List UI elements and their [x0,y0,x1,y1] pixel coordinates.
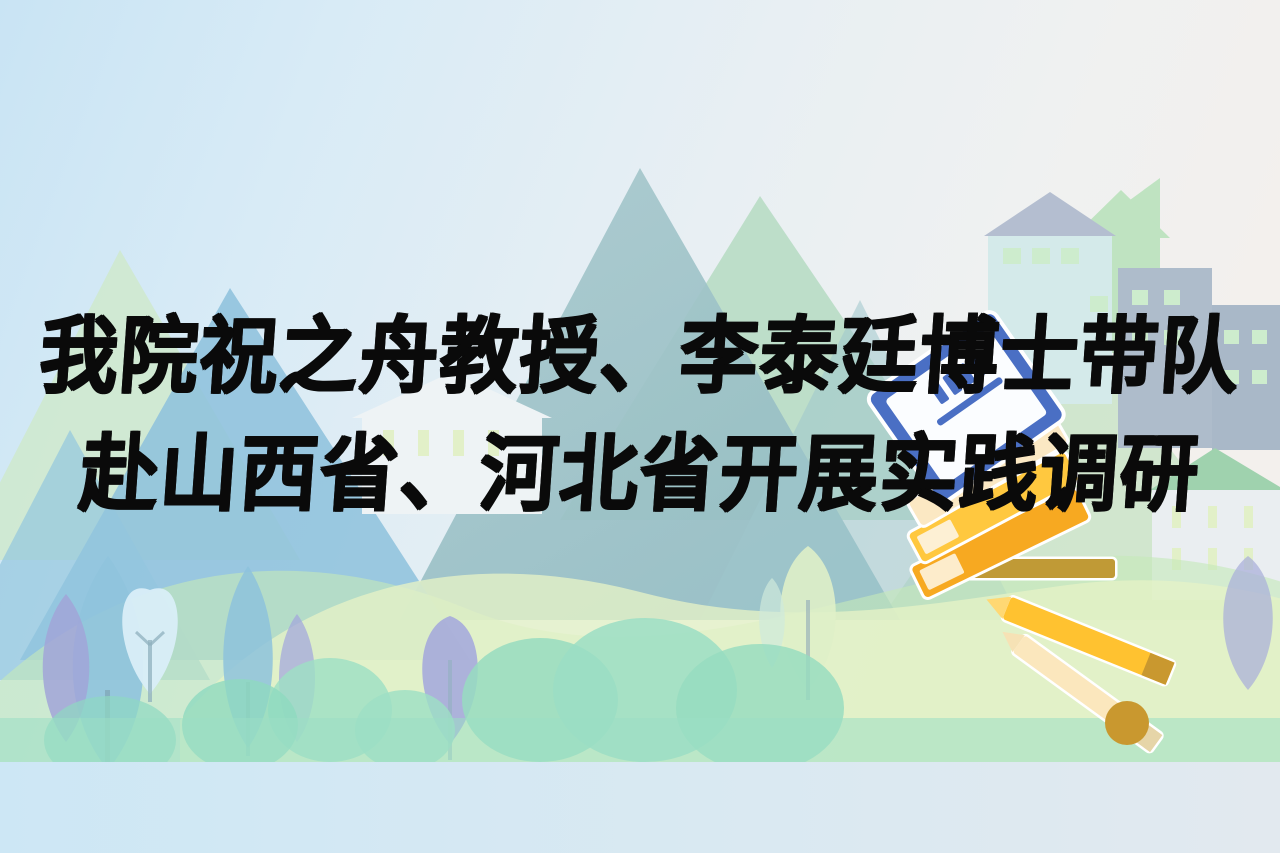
banner-title-block: 我院祝之舟教授、李泰廷博士带队 赴山西省、河北省开展实践调研 [0,298,1280,534]
gold-dot [1105,701,1149,745]
banner-title-line-1: 我院祝之舟教授、李泰廷博士带队 [0,294,1280,420]
banner-title-line-2: 赴山西省、河北省开展实践调研 [0,412,1280,538]
banner-root: 我院祝之舟教授、李泰廷博士带队 赴山西省、河北省开展实践调研 [0,0,1280,853]
